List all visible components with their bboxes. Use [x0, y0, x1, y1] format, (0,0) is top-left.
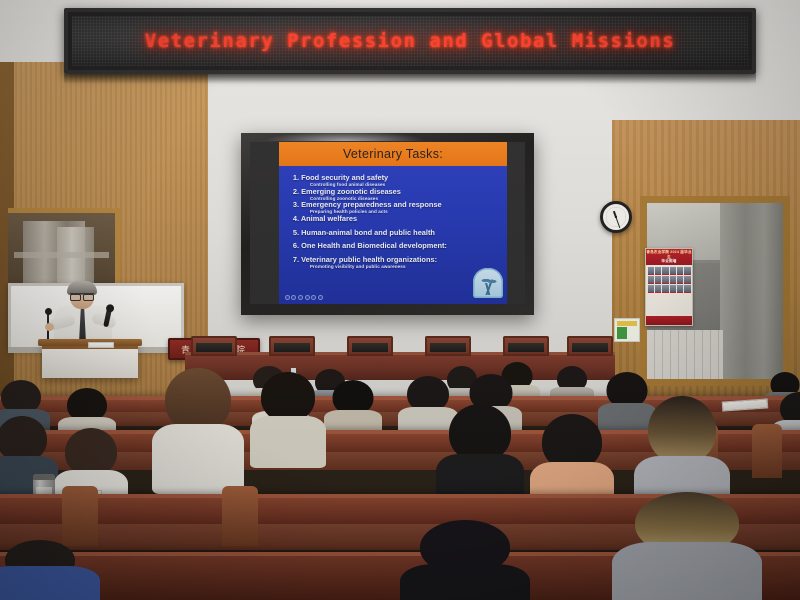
door-metal-panel [720, 203, 783, 379]
slide-title: Veterinary Tasks: [343, 147, 443, 161]
prev-slide-icon[interactable] [285, 295, 290, 300]
poster-footer-band [646, 316, 692, 325]
screen-glare [264, 131, 425, 141]
slide-title-bar: Veterinary Tasks: [279, 142, 507, 166]
pen-icon[interactable] [298, 295, 303, 300]
person-body [250, 416, 326, 468]
poster-headline-text: 青岛农业学院 2024 届毕业生 [646, 250, 692, 259]
front-chair [503, 336, 549, 356]
poster-portrait [677, 276, 683, 284]
slide-item-4: 4. Animal welfares [293, 215, 501, 223]
audience-person [400, 520, 530, 600]
poster-portrait [648, 276, 654, 284]
front-chair [191, 336, 237, 356]
poster-portrait [670, 276, 676, 284]
led-banner: Veterinary Profession and Global Mission… [64, 8, 756, 74]
poster-portrait [655, 267, 661, 275]
poster-portrait [662, 285, 668, 293]
led-banner-text: Veterinary Profession and Global Mission… [145, 30, 676, 52]
speaker-left-hand [45, 323, 54, 331]
person-body [400, 564, 530, 600]
wall-tile [647, 330, 723, 379]
wall-clock-icon [600, 201, 632, 233]
notice-yellow-band [617, 321, 637, 326]
poster-portrait [655, 276, 661, 284]
slide-item-6: 6. One Health and Biomedical development… [293, 242, 501, 250]
front-chair [425, 336, 471, 356]
lectern-notes [88, 342, 114, 348]
slide-body: 1. Food security and safety Controlling … [279, 166, 507, 304]
bench-end-panel [752, 424, 782, 478]
poster-portrait-grid [646, 265, 692, 294]
audience-person [152, 368, 244, 488]
zoom-icon[interactable] [311, 295, 316, 300]
audience-person [612, 492, 762, 600]
slide-item-2: 2. Emerging zoonotic diseases [293, 188, 501, 196]
person-head [261, 372, 315, 422]
poster-portrait [670, 285, 676, 293]
slide-subitem-7: Promoting visibility and public awarenes… [310, 264, 501, 270]
person-body [612, 542, 762, 600]
poster-portrait [662, 267, 668, 275]
person-body [152, 424, 244, 494]
bench-end-panel [222, 486, 258, 546]
banner-drop-shadow [64, 74, 756, 84]
led-screen: Veterinary Profession and Global Mission… [72, 16, 748, 66]
slideshow-controls[interactable] [285, 295, 323, 300]
bench-end-panel [62, 486, 98, 546]
slide-item-1: 1. Food security and safety [293, 174, 501, 182]
alcove-shelf [14, 252, 108, 258]
poster-headline: 青岛农业学院 2024 届毕业生 毕业照墙 [646, 249, 692, 265]
more-options-icon[interactable] [318, 295, 323, 300]
poster-portrait [684, 285, 690, 293]
wall-notice-sign [614, 318, 640, 342]
slide-content: Veterinary Tasks: 1. Food security and s… [279, 142, 507, 304]
slide-item-5: 5. Human-animal bond and public health [293, 229, 501, 237]
poster-portrait [670, 267, 676, 275]
poster-portrait [662, 276, 668, 284]
speaker-glasses-icon [70, 293, 94, 298]
poster-portrait [677, 267, 683, 275]
poster-portrait [655, 285, 661, 293]
audience-person [0, 540, 100, 600]
person-head [648, 396, 716, 464]
notice-green-block [617, 327, 627, 339]
front-chair [567, 336, 613, 356]
person-head [165, 368, 231, 432]
poster-portrait [684, 267, 690, 275]
poster-portrait [648, 285, 654, 293]
person-head [65, 428, 117, 476]
poster-portrait [648, 267, 654, 275]
organization-logo-icon [473, 268, 503, 298]
front-chair [347, 336, 393, 356]
lecture-hall-photo: Veterinary Profession and Global Mission… [0, 0, 800, 600]
poster-portrait [684, 276, 690, 284]
menu-icon[interactable] [305, 295, 310, 300]
poster-subline-text: 毕业照墙 [661, 259, 676, 263]
slide-item-7: 7. Veterinary public health organization… [293, 256, 501, 264]
graduation-photo-poster: 青岛农业学院 2024 届毕业生 毕业照墙 [645, 248, 693, 326]
person-body [0, 566, 100, 600]
front-chair [269, 336, 315, 356]
poster-portrait [677, 285, 683, 293]
next-slide-icon[interactable] [291, 295, 296, 300]
slide-surface: Veterinary Tasks: 1. Food security and s… [250, 142, 525, 304]
audience-person [250, 372, 326, 464]
presentation-screen[interactable]: Veterinary Tasks: 1. Food security and s… [241, 133, 534, 315]
